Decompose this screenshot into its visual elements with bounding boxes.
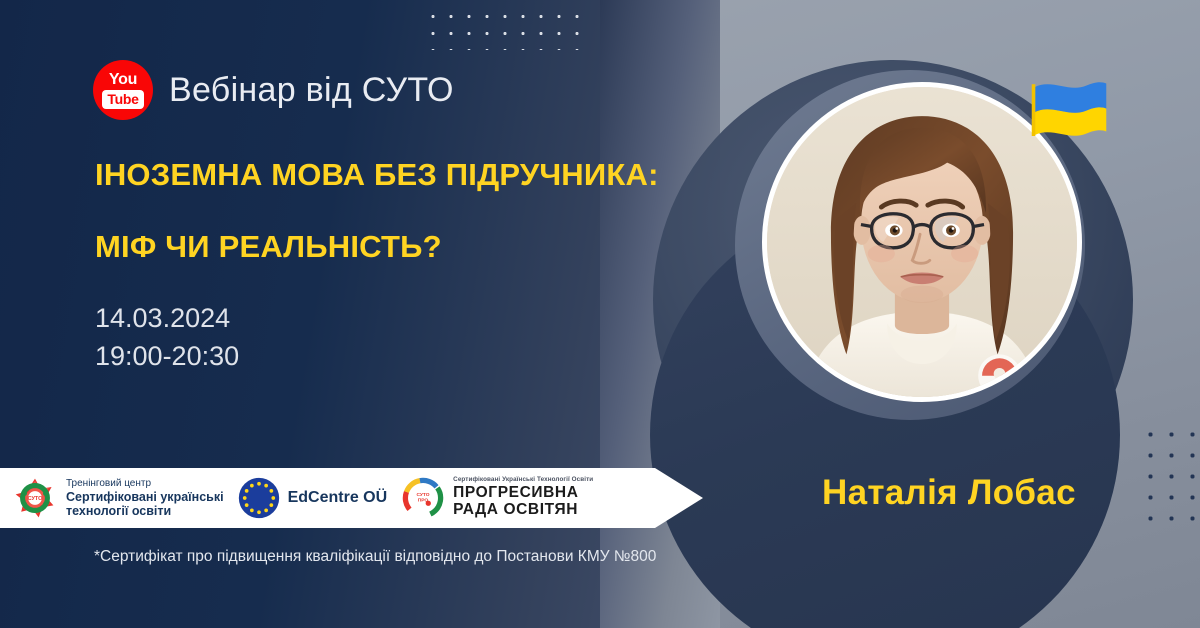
ukraine-flag-icon	[1026, 74, 1112, 136]
schedule-time: 19:00-20:30	[95, 337, 239, 375]
partner-suto-line-2: Сертифіковані українські	[66, 490, 224, 504]
partner-progressive-line-1: ПРОГРЕСИВНА	[453, 484, 593, 501]
partner-suto-text: Тренінговий центр Сертифіковані українсь…	[66, 478, 224, 517]
partner-progressive-text: Сертифіковані Українські Технології Осві…	[453, 477, 593, 518]
svg-text:СУТО: СУТО	[28, 496, 44, 502]
svg-text:СУТО: СУТО	[417, 492, 430, 498]
channel-header: You Tube Вебінар від СУТО	[93, 60, 454, 120]
partner-suto: СУТО Тренінговий центр Сертифіковані укр…	[12, 475, 224, 521]
partner-suto-line-3: технології освіти	[66, 504, 224, 518]
partner-progressive-council: СУТО ПРО Сертифіковані Українські Технол…	[401, 476, 593, 520]
partner-progressive-line-2: РАДА ОСВІТЯН	[453, 501, 593, 518]
partner-list: СУТО Тренінговий центр Сертифіковані укр…	[0, 468, 593, 528]
suto-pro-emblem-icon: СУТО ПРО	[401, 476, 445, 520]
partner-progressive-subtitle: Сертифіковані Українські Технології Осві…	[453, 477, 593, 484]
dot-grid-top	[424, 8, 584, 50]
youtube-icon-bottom-text: Tube	[102, 90, 143, 109]
youtube-icon[interactable]: You Tube	[93, 60, 153, 120]
webinar-title-line-1: ІНОЗЕМНА МОВА БЕЗ ПІДРУЧНИКА:	[95, 158, 735, 192]
webinar-promo-banner: You Tube Вебінар від СУТО ІНОЗЕМНА МОВА …	[0, 0, 1200, 628]
partner-edcentre-label: EdCentre OÜ	[288, 489, 388, 507]
schedule-block: 14.03.2024 19:00-20:30	[95, 299, 239, 376]
partner-band: СУТО Тренінговий центр Сертифіковані укр…	[0, 468, 710, 528]
partner-band-arrow	[655, 468, 703, 528]
partner-suto-line-1: Тренінговий центр	[66, 478, 224, 489]
suto-emblem-icon: СУТО	[12, 475, 58, 521]
eu-flag-icon	[238, 477, 280, 519]
webinar-title-line-2: МІФ ЧИ РЕАЛЬНІСТЬ?	[95, 230, 735, 264]
svg-text:ПРО: ПРО	[418, 498, 429, 504]
webinar-title: ІНОЗЕМНА МОВА БЕЗ ПІДРУЧНИКА: МІФ ЧИ РЕА…	[95, 158, 735, 264]
certificate-footnote: *Сертифікат про підвищення кваліфікації …	[94, 548, 656, 566]
channel-label: Вебінар від СУТО	[169, 71, 454, 110]
speaker-name: Наталія Лобас	[822, 473, 1076, 513]
dot-grid-right	[1140, 424, 1200, 530]
partner-edcentre: EdCentre OÜ	[238, 477, 388, 519]
youtube-icon-top-text: You	[109, 72, 137, 88]
schedule-date: 14.03.2024	[95, 299, 239, 337]
